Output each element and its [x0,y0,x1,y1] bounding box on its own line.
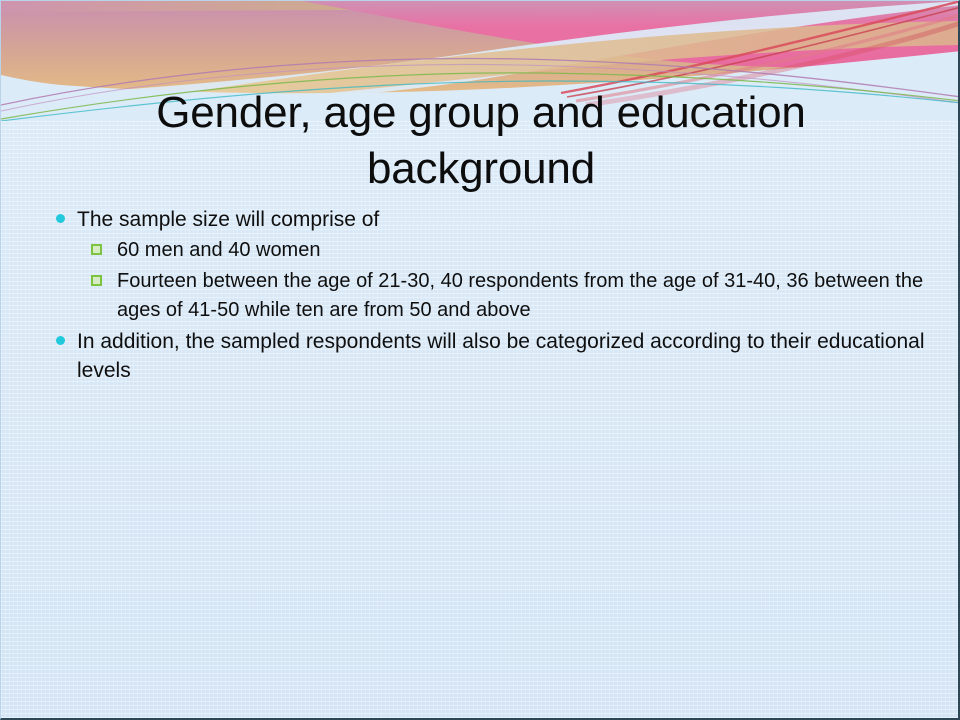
list-item: In addition, the sampled respondents wil… [47,327,927,385]
list-item-label: In addition, the sampled respondents wil… [77,327,927,385]
list-item-label: 60 men and 40 women [117,236,927,265]
square-bullet-icon [91,267,117,286]
round-bullet-icon [47,205,77,223]
slide-body: The sample size will comprise of 60 men … [47,205,927,387]
page-title: Gender, age group and education backgrou… [61,85,901,197]
round-bullet-icon [47,327,77,345]
list-item: 60 men and 40 women [91,236,927,265]
list-item: Fourteen between the age of 21-30, 40 re… [91,267,927,325]
list-item-label: Fourteen between the age of 21-30, 40 re… [117,267,927,325]
square-bullet-icon [91,236,117,255]
list-item-label: The sample size will comprise of [77,205,927,234]
list-item: The sample size will comprise of [47,205,927,234]
slide: Gender, age group and education backgrou… [0,0,960,720]
